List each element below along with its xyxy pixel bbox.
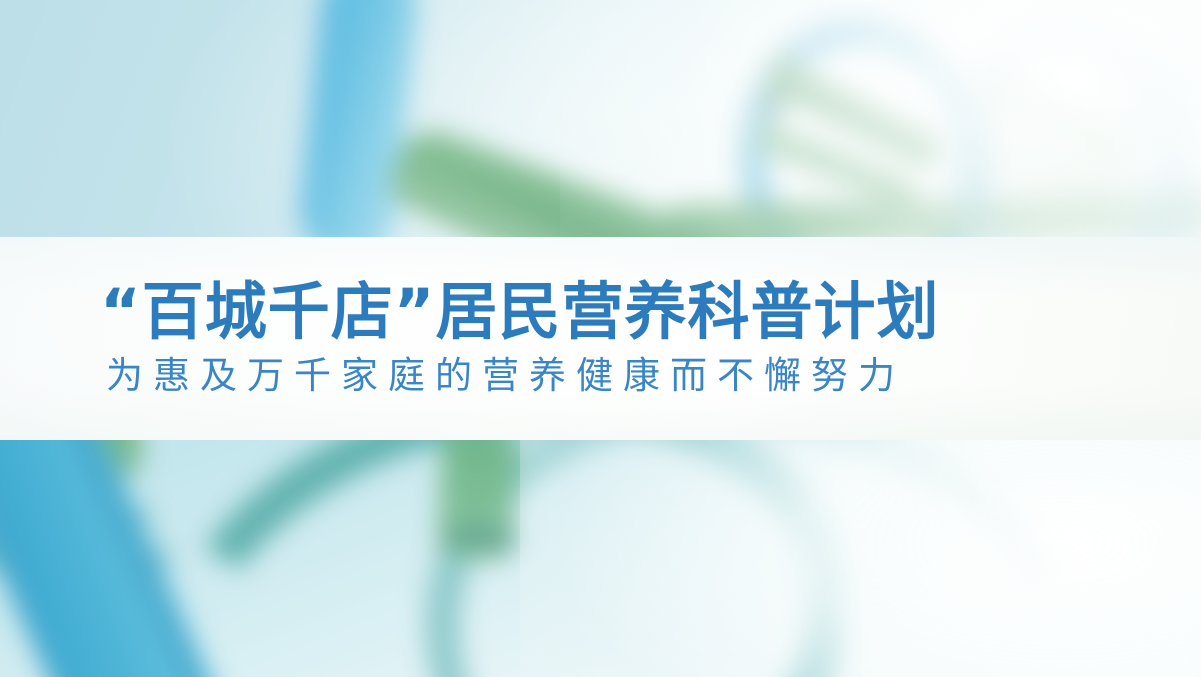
poster-canvas: “百城千店”居民营养科普计划 为惠及万千家庭的营养健康而不懈努力	[0, 0, 1201, 677]
dna-rung-teal-a	[0, 515, 171, 575]
dna-strand-blue-vertical	[295, 0, 422, 264]
dna-rung-green-center	[437, 426, 518, 562]
background-top-right-fade	[560, 0, 1201, 250]
poster-subtitle: 为惠及万千家庭的营养健康而不懈努力	[106, 356, 1201, 397]
poster-title: “百城千店”居民营养科普计划	[100, 280, 1201, 344]
banner-content: “百城千店”居民营养科普计划 为惠及万千家庭的营养健康而不懈努力	[0, 237, 1201, 440]
title-banner: “百城千店”居民营养科普计划 为惠及万千家庭的营养健康而不懈努力	[0, 237, 1201, 440]
dna-rung-green-center-shadow	[441, 526, 518, 552]
dna-rung-teal-c	[0, 491, 151, 534]
dna-rung-teal-b	[0, 542, 150, 601]
